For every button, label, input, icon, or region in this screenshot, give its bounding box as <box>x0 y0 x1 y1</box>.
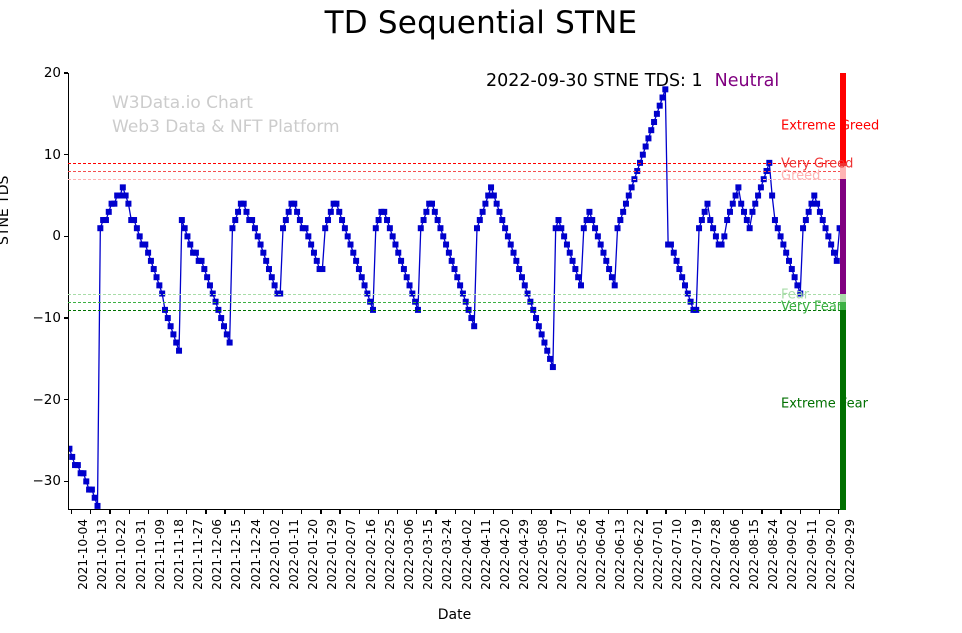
x-tick-label: 2022-08-15 <box>747 519 761 590</box>
x-tick-label: 2022-07-28 <box>709 519 723 590</box>
x-tick-label: 2022-08-06 <box>728 519 742 590</box>
x-tick-mark <box>416 510 417 514</box>
x-tick-label: 2022-03-06 <box>402 519 416 590</box>
x-tick-mark <box>723 510 724 514</box>
x-tick-mark <box>71 510 72 514</box>
x-tick-label: 2022-06-22 <box>632 519 646 590</box>
x-tick-label: 2022-08-24 <box>766 519 780 590</box>
x-tick-mark <box>474 510 475 514</box>
threshold-line <box>68 163 841 164</box>
x-tick-mark <box>780 510 781 514</box>
x-tick-mark <box>455 510 456 514</box>
x-tick-mark <box>550 510 551 514</box>
x-tick-label: 2021-10-31 <box>134 519 148 590</box>
sentiment-colorbar <box>840 73 846 510</box>
x-tick-label: 2022-05-08 <box>536 519 550 590</box>
x-tick-mark <box>742 510 743 514</box>
x-tick-label: 2022-04-11 <box>479 519 493 590</box>
x-tick-mark <box>224 510 225 514</box>
colorbar-label: Greed <box>781 168 820 183</box>
x-tick-label: 2022-04-29 <box>517 519 531 590</box>
x-tick-mark <box>493 510 494 514</box>
x-tick-mark <box>301 510 302 514</box>
annotation-sentiment: Neutral <box>703 71 780 91</box>
x-tick-mark <box>838 510 839 514</box>
x-tick-label: 2021-11-09 <box>153 519 167 590</box>
threshold-line <box>68 179 841 180</box>
y-tick-mark <box>64 72 68 73</box>
x-tick-label: 2022-02-16 <box>364 519 378 590</box>
x-tick-mark <box>167 510 168 514</box>
x-axis-label: Date <box>68 607 841 623</box>
y-tick-label: −20 <box>33 390 62 410</box>
x-tick-mark <box>531 510 532 514</box>
x-tick-mark <box>800 510 801 514</box>
x-tick-label: 2021-12-06 <box>210 519 224 590</box>
x-tick-mark <box>378 510 379 514</box>
x-tick-label: 2022-09-11 <box>805 519 819 590</box>
x-tick-mark <box>129 510 130 514</box>
x-tick-label: 2022-03-15 <box>421 519 435 590</box>
x-tick-label: 2022-02-07 <box>344 519 358 590</box>
x-tick-mark <box>646 510 647 514</box>
y-tick-label: −30 <box>33 471 62 491</box>
x-tick-mark <box>90 510 91 514</box>
annotation-current-value: 2022-09-30 STNE TDS: 1Neutral <box>486 71 779 91</box>
x-tick-label: 2022-09-29 <box>843 519 857 590</box>
x-tick-label: 2022-06-13 <box>613 519 627 590</box>
x-tick-label: 2021-11-18 <box>172 519 186 590</box>
x-tick-mark <box>339 510 340 514</box>
colorbar-label: Very Fear <box>781 300 842 315</box>
x-tick-label: 2021-10-22 <box>114 519 128 590</box>
x-tick-label: 2022-01-29 <box>325 519 339 590</box>
x-tick-label: 2022-09-20 <box>824 519 838 590</box>
x-tick-label: 2022-09-02 <box>785 519 799 590</box>
x-tick-label: 2022-05-26 <box>575 519 589 590</box>
x-tick-mark <box>435 510 436 514</box>
x-tick-mark <box>685 510 686 514</box>
x-tick-label: 2022-04-20 <box>498 519 512 590</box>
x-tick-mark <box>589 510 590 514</box>
x-tick-label: 2022-06-04 <box>594 519 608 590</box>
x-tick-mark <box>608 510 609 514</box>
x-tick-label: 2022-01-20 <box>306 519 320 590</box>
y-tick-label: −10 <box>33 308 62 328</box>
x-tick-mark <box>570 510 571 514</box>
threshold-line <box>68 171 841 172</box>
y-axis-spine <box>68 73 69 510</box>
x-tick-label: 2022-01-11 <box>287 519 301 590</box>
threshold-line <box>68 294 841 295</box>
y-tick-mark <box>64 399 68 400</box>
y-tick-mark <box>64 317 68 318</box>
colorbar-label: Extreme Greed <box>781 119 879 134</box>
colorbar-segment <box>840 179 846 293</box>
x-tick-label: 2022-02-25 <box>383 519 397 590</box>
page-title: TD Sequential STNE <box>0 5 962 41</box>
y-tick-label: 10 <box>44 145 61 165</box>
x-tick-mark <box>397 510 398 514</box>
x-tick-label: 2021-10-13 <box>95 519 109 590</box>
x-tick-mark <box>148 510 149 514</box>
threshold-line <box>68 302 841 303</box>
x-tick-label: 2022-05-17 <box>555 519 569 590</box>
x-tick-label: 2022-03-24 <box>440 519 454 590</box>
x-tick-label: 2022-07-01 <box>651 519 665 590</box>
x-tick-mark <box>665 510 666 514</box>
y-tick-mark <box>64 236 68 237</box>
y-tick-label: 20 <box>44 63 61 83</box>
x-tick-label: 2021-10-04 <box>76 519 90 590</box>
x-tick-label: 2022-07-19 <box>690 519 704 590</box>
x-tick-mark <box>282 510 283 514</box>
x-tick-label: 2021-12-15 <box>229 519 243 590</box>
y-tick-mark <box>64 154 68 155</box>
annotation-text: 2022-09-30 STNE TDS: 1 <box>486 71 703 91</box>
x-tick-mark <box>819 510 820 514</box>
watermark: W3Data.io Chart Web3 Data & NFT Platform <box>112 91 340 139</box>
x-tick-mark <box>109 510 110 514</box>
x-tick-mark <box>263 510 264 514</box>
x-tick-mark <box>359 510 360 514</box>
y-tick-label: 0 <box>52 226 61 246</box>
x-tick-label: 2022-07-10 <box>670 519 684 590</box>
x-tick-mark <box>244 510 245 514</box>
x-tick-mark <box>761 510 762 514</box>
x-tick-mark <box>186 510 187 514</box>
x-tick-label: 2022-01-02 <box>268 519 282 590</box>
x-tick-mark <box>704 510 705 514</box>
y-tick-mark <box>64 481 68 482</box>
chart-container: TD Sequential STNE STNE TDS Date W3Data.… <box>0 0 962 633</box>
y-axis-label: STNE TDS <box>0 176 12 245</box>
x-tick-mark <box>627 510 628 514</box>
x-tick-mark <box>205 510 206 514</box>
x-tick-label: 2022-04-02 <box>460 519 474 590</box>
x-tick-label: 2021-12-24 <box>249 519 263 590</box>
plot-area: W3Data.io Chart Web3 Data & NFT Platform… <box>68 73 841 510</box>
colorbar-label: Extreme Fear <box>781 396 868 411</box>
threshold-line <box>68 310 841 311</box>
x-tick-label: 2021-11-27 <box>191 519 205 590</box>
x-tick-mark <box>512 510 513 514</box>
x-tick-mark <box>320 510 321 514</box>
